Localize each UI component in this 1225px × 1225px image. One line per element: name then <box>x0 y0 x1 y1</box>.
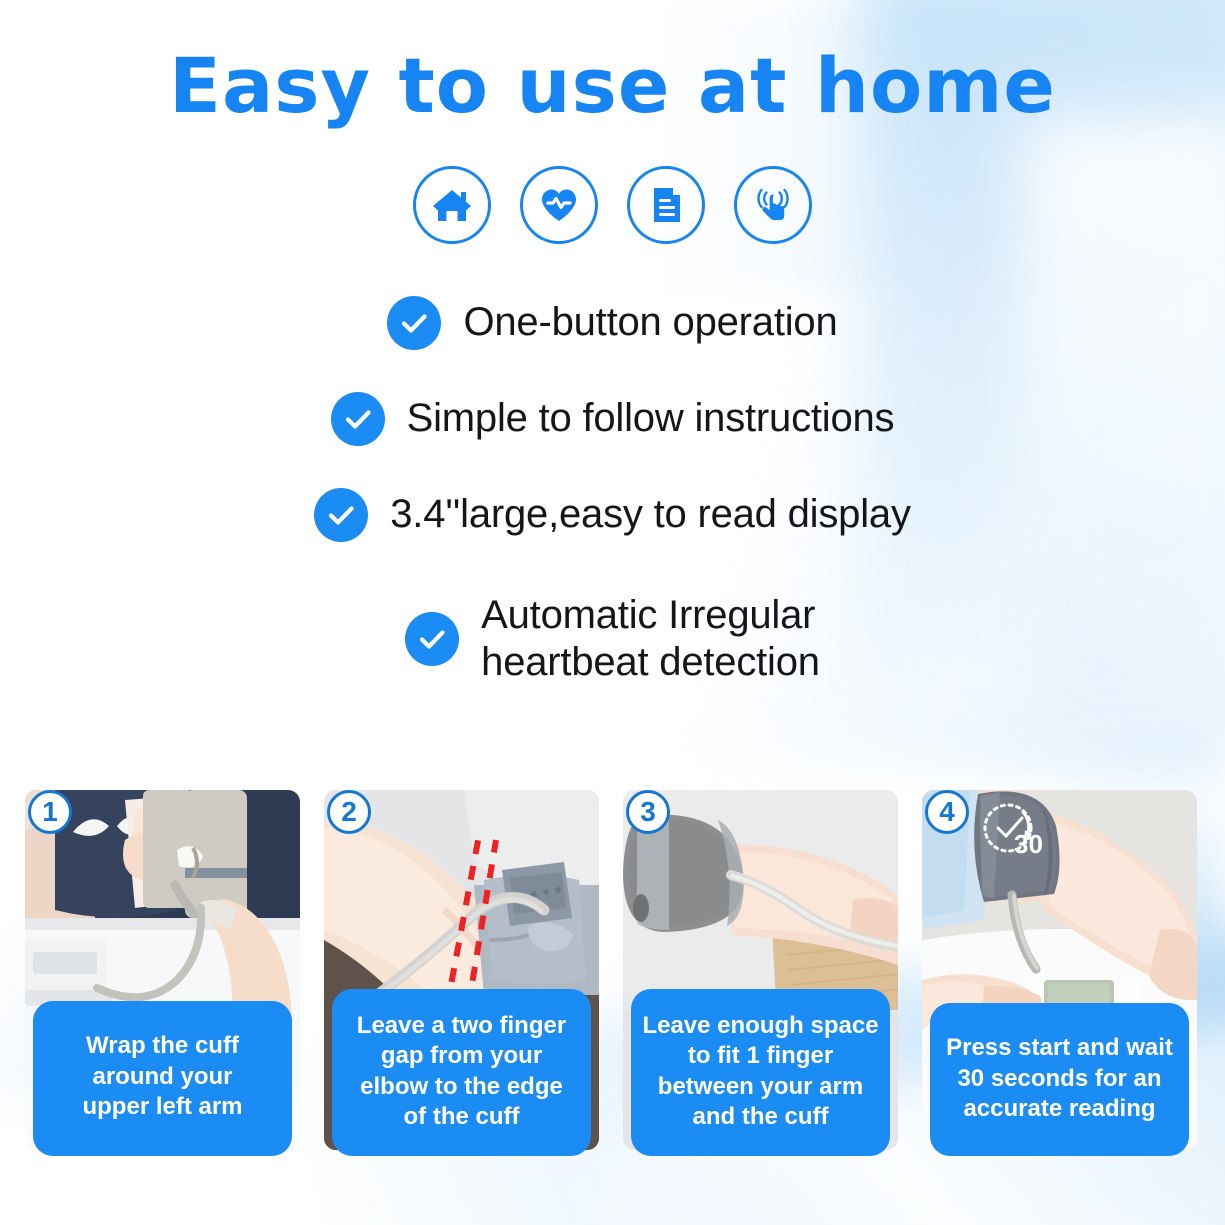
feature-item-label: Simple to follow instructions <box>407 395 895 442</box>
feature-item-label: 3.4''large,easy to read display <box>390 491 911 538</box>
step-caption: Press start and wait 30 seconds for an a… <box>930 1003 1189 1156</box>
step-badge: 4 <box>925 790 969 834</box>
feature-icon-row <box>0 166 1225 244</box>
home-icon <box>413 166 491 244</box>
step-caption: Leave a two finger gap from your elbow t… <box>332 989 591 1156</box>
check-icon <box>314 488 368 542</box>
step-card-grid: 1 Wrap the cuff around your upper left a… <box>25 790 1200 1150</box>
feature-list: One-button operation Simple to follow in… <box>0 296 1225 686</box>
feature-item-one-button: One-button operation <box>387 296 837 350</box>
step-card: 3 Leave enough space to fit 1 finger bet… <box>623 790 898 1150</box>
feature-item-label: Automatic Irregular heartbeat detection <box>481 592 820 686</box>
feature-item-display: 3.4''large,easy to read display <box>314 488 911 542</box>
promo-page: Easy to use at home <box>0 0 1225 1225</box>
step-card: 30 4 Press start and wait 30 <box>922 790 1197 1150</box>
step-card: 2 Leave a two finger gap from your elbow… <box>324 790 599 1150</box>
step-card: 1 Wrap the cuff around your upper left a… <box>25 790 300 1150</box>
step-badge: 3 <box>626 790 670 834</box>
step-badge: 1 <box>28 790 72 834</box>
step-badge: 2 <box>327 790 371 834</box>
feature-item-heartbeat: Automatic Irregular heartbeat detection <box>405 592 820 686</box>
heart-pulse-icon <box>520 166 598 244</box>
svg-text:30: 30 <box>1014 829 1043 859</box>
touch-tap-icon <box>734 166 812 244</box>
step-caption: Wrap the cuff around your upper left arm <box>33 1001 292 1156</box>
document-icon <box>627 166 705 244</box>
check-icon <box>387 296 441 350</box>
check-icon <box>331 392 385 446</box>
feature-item-label: One-button operation <box>463 299 837 346</box>
check-icon <box>405 612 459 666</box>
step-caption: Leave enough space to fit 1 finger betwe… <box>631 989 890 1156</box>
feature-item-instructions: Simple to follow instructions <box>331 392 895 446</box>
page-title: Easy to use at home <box>0 44 1225 128</box>
